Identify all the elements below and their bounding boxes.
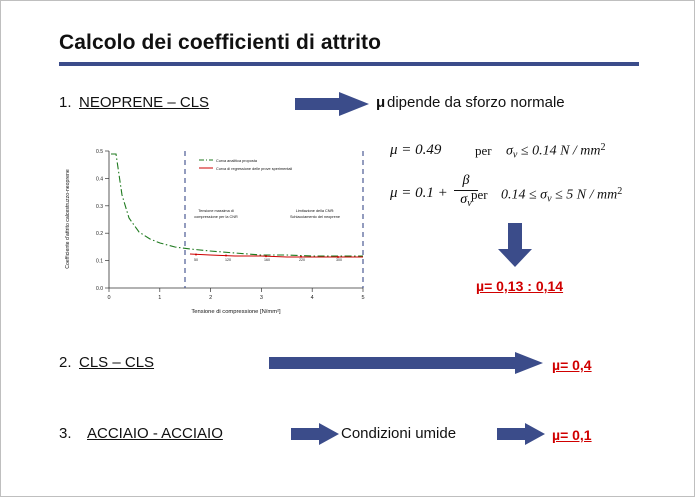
- item-3-condition: Condizioni umide: [341, 425, 456, 442]
- svg-text:50: 50: [194, 258, 198, 262]
- item-1-note-text: dipende da sforzo normale: [387, 94, 565, 111]
- svg-text:Schiacciamento del neoprene: Schiacciamento del neoprene: [290, 215, 340, 219]
- right-arrow-icon-4: [497, 423, 545, 445]
- chart-annotation-cnr-max: Tensione massima di compressione per la …: [194, 209, 238, 219]
- svg-text:0.4: 0.4: [96, 176, 103, 182]
- chart-annotation-cnr-limit: Limitazione della CNR: Schiacciamento de…: [290, 209, 340, 219]
- right-arrow-icon-3: [291, 423, 339, 445]
- formula-line-1-condition: σv ≤ 0.14 N / mm2: [506, 142, 606, 160]
- friction-coefficient-chart: 0.0 0.1 0.2 0.3 0.4 0.5 0 1 2 3: [53, 133, 373, 329]
- title-underline-rule: [59, 62, 639, 66]
- item-2-number: 2.: [59, 354, 72, 371]
- cond-2-rest: ≤ 5 N / mm: [552, 188, 618, 203]
- svg-text:0.3: 0.3: [96, 204, 103, 210]
- item-3-number: 3.: [59, 425, 72, 442]
- svg-text:300: 300: [336, 258, 342, 262]
- svg-text:0.2: 0.2: [96, 231, 103, 237]
- svg-text:Limitazione della CNR:: Limitazione della CNR:: [296, 209, 335, 213]
- svg-text:2: 2: [209, 295, 212, 301]
- item-1-number: 1.: [59, 94, 72, 111]
- cond-2-a: 0.14 ≤ σ: [501, 188, 547, 203]
- item-1-note-mu: μ: [376, 94, 385, 111]
- svg-text:Curva analitica proposta: Curva analitica proposta: [216, 159, 258, 163]
- formula-line-1: μ = 0.49: [390, 142, 441, 159]
- cond-1-sup: 2: [601, 142, 606, 153]
- svg-text:120: 120: [225, 258, 231, 262]
- chart-legend: Curva analitica proposta Curva di regres…: [199, 159, 292, 171]
- svg-text:compressione per la CNR: compressione per la CNR: [194, 215, 238, 219]
- svg-text:4: 4: [311, 295, 314, 301]
- right-arrow-icon-1: [295, 92, 369, 116]
- acciaio-result-badge: µ= 0,1: [552, 427, 592, 443]
- formula-line-2-per: per: [471, 187, 488, 203]
- neoprene-result-badge: µ= 0,13 : 0,14: [476, 278, 563, 294]
- item-3-label: ACCIAIO - ACCIAIO: [87, 425, 223, 442]
- item-2-label: CLS – CLS: [79, 354, 154, 371]
- svg-text:160: 160: [264, 258, 270, 262]
- svg-text:Curva di regressione delle pro: Curva di regressione delle prove sperime…: [216, 167, 292, 171]
- sigma-1: σ: [506, 144, 513, 159]
- formula-line-1-per: per: [475, 143, 492, 159]
- svg-text:0: 0: [107, 295, 110, 301]
- cond-1-rest: ≤ 0.14 N / mm: [517, 144, 600, 159]
- down-arrow-icon: [498, 223, 532, 267]
- page-title: Calcolo dei coefficienti di attrito: [59, 31, 381, 55]
- svg-text:0.5: 0.5: [96, 149, 103, 155]
- svg-text:0.0: 0.0: [96, 286, 103, 292]
- cls-cls-result-badge: µ= 0,4: [552, 357, 592, 373]
- svg-text:Tensione massima di: Tensione massima di: [198, 209, 234, 213]
- svg-text:1: 1: [158, 295, 161, 301]
- formula-line-2-condition: 0.14 ≤ σv ≤ 5 N / mm2: [501, 186, 622, 204]
- svg-text:3: 3: [260, 295, 263, 301]
- right-arrow-icon-2: [269, 352, 543, 374]
- svg-text:220: 220: [299, 258, 305, 262]
- formula-line-2: μ = 0.1 +: [390, 185, 448, 202]
- svg-text:5: 5: [361, 295, 364, 301]
- chart-xlabel: Tensione di compressione [N/mm²]: [191, 309, 281, 315]
- cond-2-sup: 2: [617, 186, 622, 197]
- chart-ylabel: Coefficiente d'attrito calcestruzzo-neop…: [65, 169, 71, 269]
- slide: Calcolo dei coefficienti di attrito 1. N…: [0, 0, 695, 497]
- item-1-label: NEOPRENE – CLS: [79, 94, 209, 111]
- svg-text:0.1: 0.1: [96, 259, 103, 265]
